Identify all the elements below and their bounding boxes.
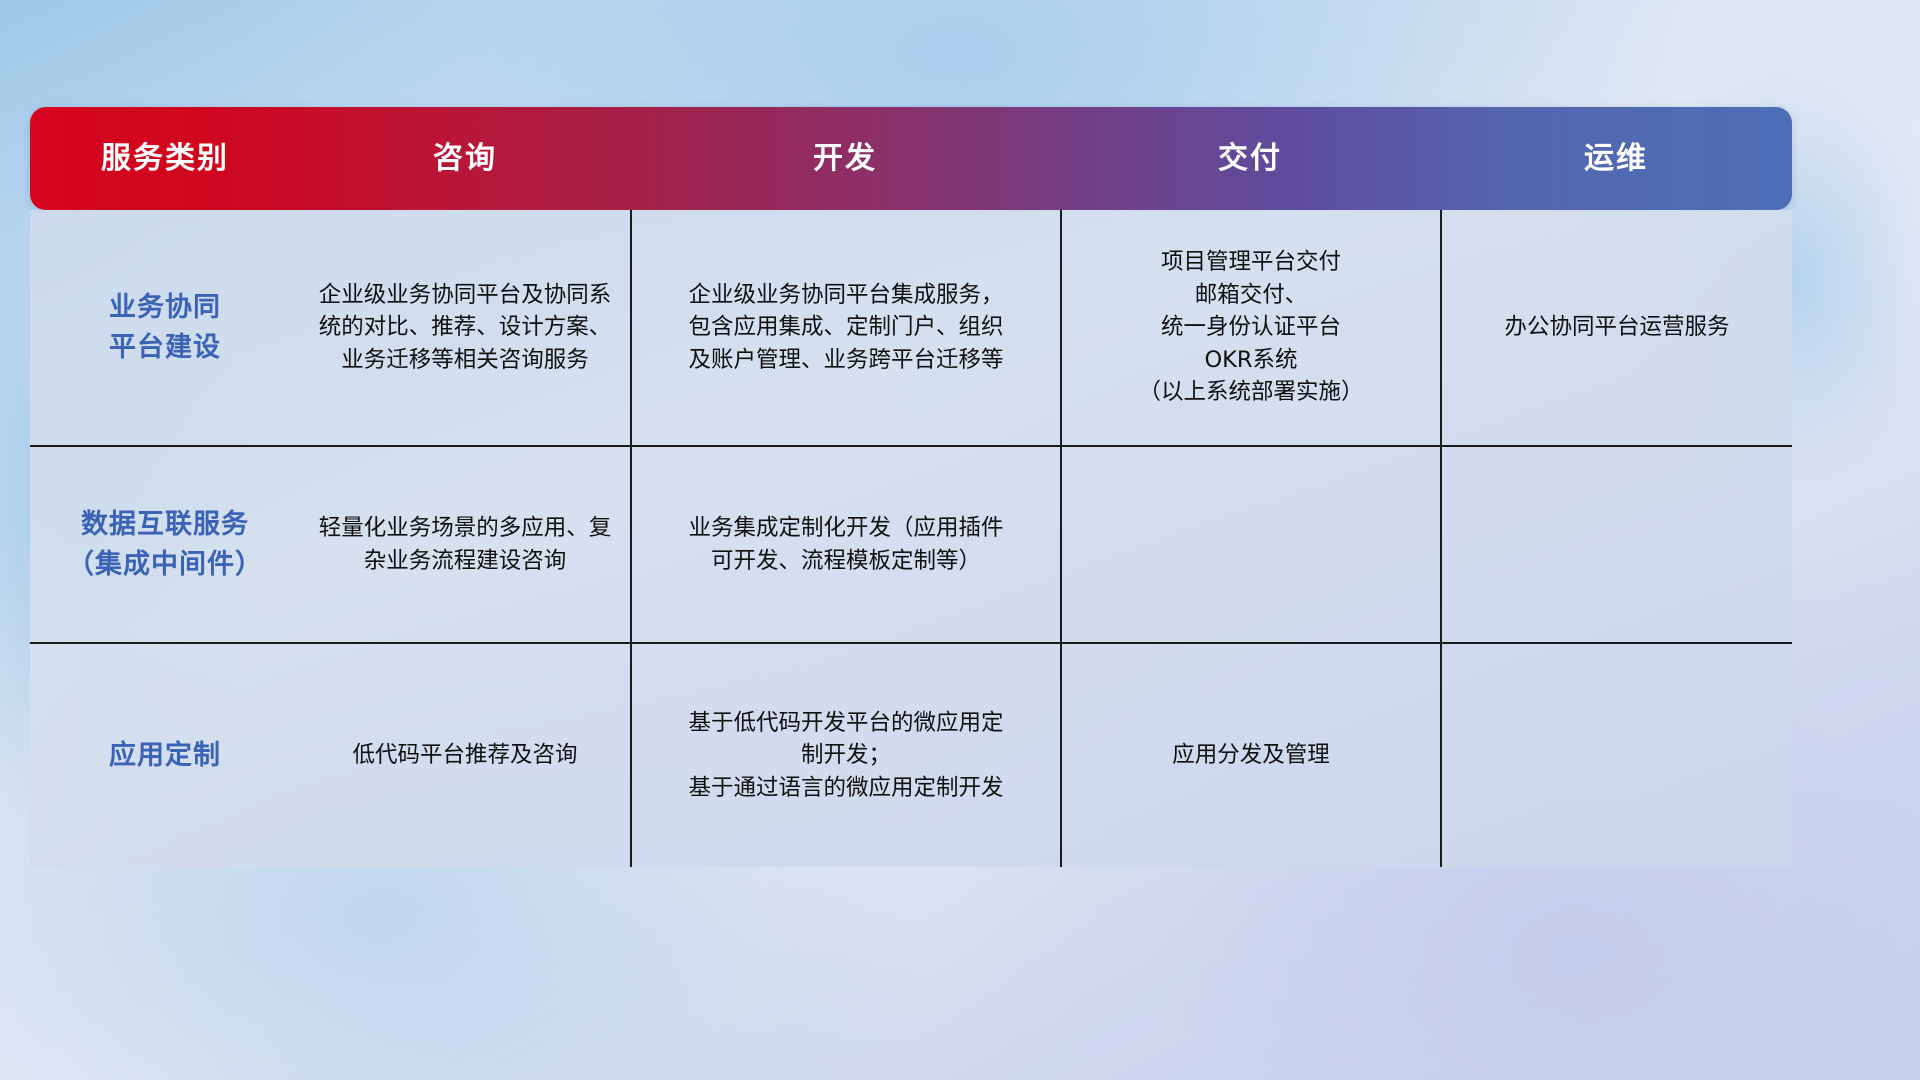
cell-development: 业务集成定制化开发（应用插件 可开发、流程模板定制等） — [630, 447, 1060, 642]
column-header-category: 服务类别 — [30, 107, 300, 210]
cell-development: 基于低代码开发平台的微应用定 制开发； 基于通过语言的微应用定制开发 — [630, 644, 1060, 867]
service-matrix-table: 服务类别 咨询 开发 交付 运维 业务协同 平台建设 企业级业务协同平台及协同系… — [30, 107, 1792, 867]
column-header-delivery: 交付 — [1060, 107, 1440, 210]
cell-operations: 办公协同平台运营服务 — [1440, 210, 1792, 445]
column-header-operations: 运维 — [1440, 107, 1792, 210]
cell-delivery: 项目管理平台交付 邮箱交付、 统一身份认证平台 OKR系统 （以上系统部署实施） — [1060, 210, 1440, 445]
row-category-label: 业务协同 平台建设 — [30, 210, 300, 445]
table-body: 业务协同 平台建设 企业级业务协同平台及协同系 统的对比、推荐、设计方案、 业务… — [30, 210, 1792, 867]
cell-consulting: 企业级业务协同平台及协同系 统的对比、推荐、设计方案、 业务迁移等相关咨询服务 — [300, 210, 630, 445]
row-category-label: 数据互联服务 （集成中间件） — [30, 447, 300, 642]
cell-operations — [1440, 447, 1792, 642]
cell-operations — [1440, 644, 1792, 867]
table-row: 应用定制 低代码平台推荐及咨询 基于低代码开发平台的微应用定 制开发； 基于通过… — [30, 642, 1792, 867]
row-category-label: 应用定制 — [30, 644, 300, 867]
cell-consulting: 轻量化业务场景的多应用、复 杂业务流程建设咨询 — [300, 447, 630, 642]
column-header-consulting: 咨询 — [300, 107, 630, 210]
cell-delivery — [1060, 447, 1440, 642]
table-header-row: 服务类别 咨询 开发 交付 运维 — [30, 107, 1792, 210]
table-row: 业务协同 平台建设 企业级业务协同平台及协同系 统的对比、推荐、设计方案、 业务… — [30, 210, 1792, 445]
cell-delivery: 应用分发及管理 — [1060, 644, 1440, 867]
column-header-development: 开发 — [630, 107, 1060, 210]
cell-development: 企业级业务协同平台集成服务， 包含应用集成、定制门户、组织 及账户管理、业务跨平… — [630, 210, 1060, 445]
table-row: 数据互联服务 （集成中间件） 轻量化业务场景的多应用、复 杂业务流程建设咨询 业… — [30, 445, 1792, 642]
cell-consulting: 低代码平台推荐及咨询 — [300, 644, 630, 867]
